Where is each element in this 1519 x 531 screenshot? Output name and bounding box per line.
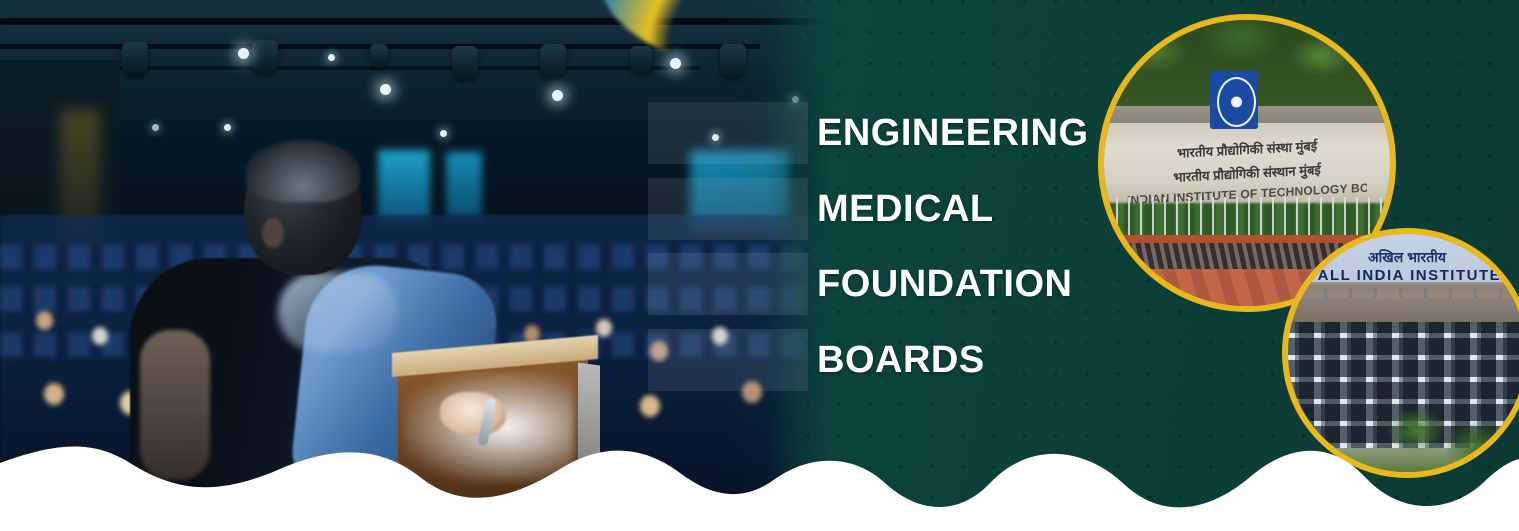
stage-screen <box>378 150 430 222</box>
heading-engineering: ENGINEERING <box>817 114 1089 152</box>
stage-light-icon <box>452 46 478 80</box>
heading-boards: BOARDS <box>817 341 985 379</box>
stage-light-icon <box>370 44 388 68</box>
aiims-sign-line-2: ALL INDIA INSTITUTE <box>1298 267 1519 284</box>
ceiling-light <box>152 124 159 131</box>
heading-panel <box>648 253 808 315</box>
stage-screen <box>446 152 482 218</box>
audience-head <box>92 327 108 345</box>
heading-panel <box>648 178 808 240</box>
heading-panel <box>648 102 808 164</box>
stage-light-icon <box>540 44 566 78</box>
aiims-sign-line-1: अखिल भारतीय <box>1307 248 1507 267</box>
promo-banner: ENGINEERING MEDICAL FOUNDATION BOARDS भा… <box>0 0 1519 531</box>
heading-medical: MEDICAL <box>817 190 994 228</box>
audience-head <box>596 319 612 337</box>
ceiling-light <box>670 58 681 69</box>
ceiling-light <box>552 90 563 101</box>
aiims-parapet <box>1288 298 1519 322</box>
ceiling-light <box>328 54 335 61</box>
speaker-hair <box>246 140 360 202</box>
heading-foundation: FOUNDATION <box>817 265 1073 303</box>
stage-light-icon <box>630 46 652 74</box>
speaker-shoulder-highlight <box>278 272 398 352</box>
iit-logo-icon <box>1210 71 1259 128</box>
heading-panel <box>648 329 808 391</box>
audience-head <box>36 311 53 330</box>
ceiling-light <box>440 130 447 137</box>
ceiling-light <box>380 84 391 95</box>
speaker-ear <box>262 218 284 248</box>
ceiling-light <box>224 124 231 131</box>
bottom-wave-divider <box>0 411 1519 531</box>
stage-light-icon <box>122 42 148 76</box>
ceiling-light <box>238 48 249 59</box>
audience-head <box>44 383 64 405</box>
stage-light-icon <box>252 40 278 74</box>
